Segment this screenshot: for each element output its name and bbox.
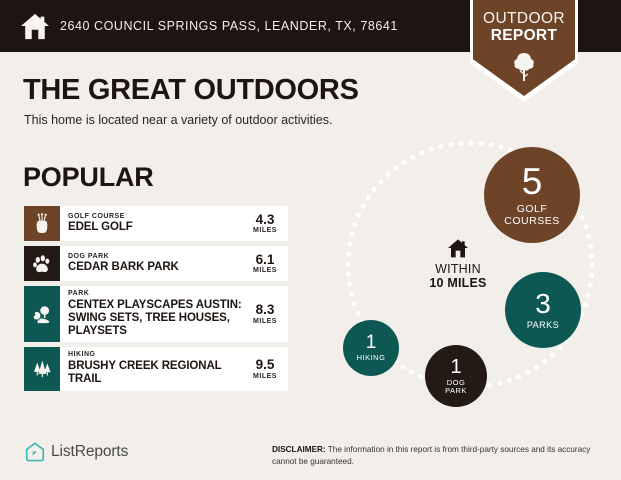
list-item-distance: 6.1 (256, 253, 275, 267)
list-item-name: CENTEX PLAYSCAPES AUSTIN: SWING SETS, TR… (68, 299, 244, 339)
list-item-distance-block: 8.3 MILES (246, 286, 288, 342)
bubble-hiking[interactable]: 1 HIKING (343, 320, 399, 376)
bubble-count: 1 (366, 333, 377, 352)
home-icon (447, 238, 469, 258)
list-item-distance-block: 4.3 MILES (246, 206, 288, 241)
within-10-miles-bubble-chart: 5 GOLF COURSES 3 PARKS 1 HIKING 1 DOG PA… (330, 140, 621, 420)
list-item-text: DOG PARK CEDAR BARK PARK (60, 246, 246, 281)
list-item-distance: 9.5 (256, 358, 275, 372)
bubble-count: 1 (450, 357, 461, 377)
list-item[interactable]: HIKING BRUSHY CREEK REGIONAL TRAIL 9.5 M… (24, 347, 288, 390)
bubble-count: 5 (522, 163, 543, 200)
bubble-count: 3 (535, 290, 551, 318)
page-subtitle: This home is located near a variety of o… (24, 113, 332, 127)
list-item[interactable]: PARK CENTEX PLAYSCAPES AUSTIN: SWING SET… (24, 286, 288, 342)
list-item-text: GOLF COURSE EDEL GOLF (60, 206, 246, 241)
list-item-text: PARK CENTEX PLAYSCAPES AUSTIN: SWING SET… (60, 286, 246, 342)
list-item-unit: MILES (253, 318, 277, 325)
list-item[interactable]: DOG PARK CEDAR BARK PARK 6.1 MILES (24, 246, 288, 281)
list-item-category: PARK (68, 290, 244, 299)
bubble-golf-courses[interactable]: 5 GOLF COURSES (484, 147, 580, 243)
badge-line-2: REPORT (473, 27, 575, 45)
chart-center-label: WITHIN 10 MILES (408, 238, 508, 291)
disclaimer-label: DISCLAIMER: (272, 445, 326, 454)
list-item-category: HIKING (68, 351, 244, 360)
list-item-text: HIKING BRUSHY CREEK REGIONAL TRAIL (60, 347, 246, 390)
list-item-distance-block: 6.1 MILES (246, 246, 288, 281)
list-item-distance: 8.3 (256, 303, 275, 317)
home-icon (20, 12, 50, 40)
list-item-unit: MILES (253, 373, 277, 380)
badge-line-1: OUTDOOR (473, 10, 575, 28)
list-item[interactable]: GOLF COURSE EDEL GOLF 4.3 MILES (24, 206, 288, 241)
paw-print-icon (24, 246, 60, 281)
park-tree-icon (24, 286, 60, 342)
bubble-label: GOLF COURSES (504, 204, 559, 227)
list-item-name: CEDAR BARK PARK (68, 261, 244, 274)
list-item-distance-block: 9.5 MILES (246, 347, 288, 390)
outdoor-report-page: 2640 COUNCIL SPRINGS PASS, LEANDER, TX, … (0, 0, 621, 480)
outdoor-report-badge: OUTDOOR REPORT (473, 0, 575, 96)
popular-list: GOLF COURSE EDEL GOLF 4.3 MILES DOG PARK (24, 206, 288, 396)
property-address: 2640 COUNCIL SPRINGS PASS, LEANDER, TX, … (60, 19, 398, 33)
bubble-parks[interactable]: 3 PARKS (505, 272, 581, 348)
bubble-label: DOG PARK (445, 379, 467, 396)
bubble-dog-park[interactable]: 1 DOG PARK (425, 345, 487, 407)
listreports-logo-text: ListReports (51, 443, 128, 461)
list-item-name: BRUSHY CREEK REGIONAL TRAIL (68, 360, 244, 386)
page-title: THE GREAT OUTDOORS (23, 74, 359, 107)
bubble-label: HIKING (357, 354, 386, 362)
pine-trees-icon (24, 347, 60, 390)
tree-icon (509, 50, 539, 82)
disclaimer: DISCLAIMER: The information in this repo… (272, 444, 602, 468)
center-line-1: WITHIN (408, 262, 508, 276)
bubble-label: PARKS (527, 321, 559, 331)
list-item-category: GOLF COURSE (68, 213, 244, 222)
center-line-2: 10 MILES (408, 276, 508, 290)
list-item-name: EDEL GOLF (68, 221, 244, 234)
list-item-unit: MILES (253, 267, 277, 274)
listreports-house-logo-icon (24, 441, 46, 463)
listreports-logo[interactable]: ListReports (24, 441, 128, 463)
list-item-unit: MILES (253, 227, 277, 234)
golf-bag-icon (24, 206, 60, 241)
list-item-distance: 4.3 (256, 213, 275, 227)
list-item-category: DOG PARK (68, 253, 244, 262)
popular-heading: POPULAR (23, 162, 154, 193)
